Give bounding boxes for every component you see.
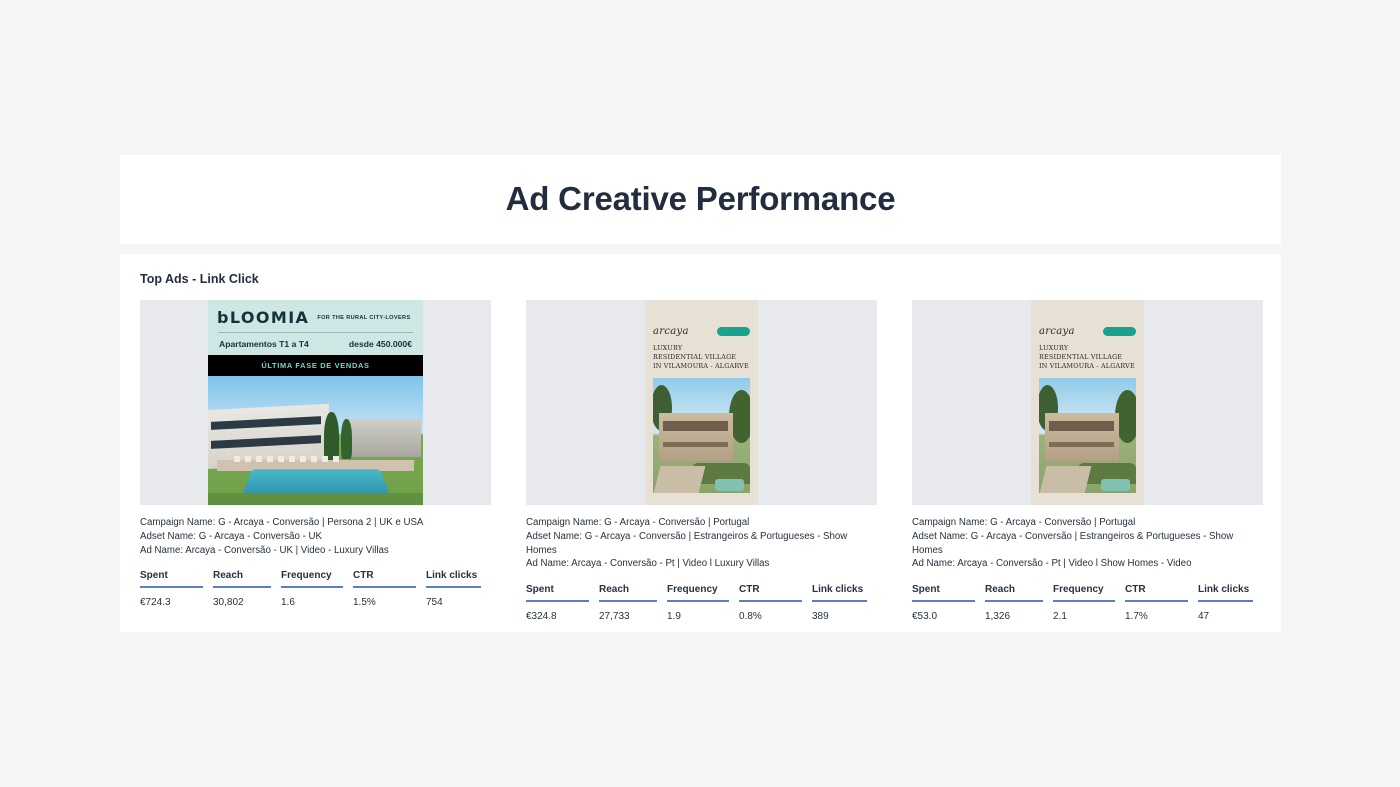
adset-name: Adset Name: G - Arcaya - Conversão | Est… <box>912 530 1263 558</box>
metric-value: 0.8% <box>739 602 812 622</box>
photo-path <box>1039 466 1090 494</box>
metric-header: Spent <box>526 584 599 600</box>
ad-card[interactable]: bLOOMIA FOR THE RURAL CITY-LOVERS Aparta… <box>140 300 491 622</box>
section-title: Top Ads - Link Click <box>140 272 1261 286</box>
photo-lawn <box>208 493 423 505</box>
creative-promo-band: ÚLTIMA FASE DE VENDAS <box>208 355 423 376</box>
metric-header: Spent <box>140 570 213 586</box>
creative-price: desde 450.000€ <box>349 339 412 349</box>
creative-photo <box>1039 378 1136 493</box>
photo-villa <box>659 413 733 461</box>
top-ads-panel: Top Ads - Link Click bLOOMIA FOR THE RUR… <box>120 254 1281 632</box>
ad-card-list: bLOOMIA FOR THE RURAL CITY-LOVERS Aparta… <box>140 300 1261 622</box>
creative-headline: LUXURYRESIDENTIAL VILLAGEIN VILAMOURA - … <box>653 344 750 371</box>
creative-headline: Apartamentos T1 a T4 <box>219 339 309 349</box>
metric-header: Reach <box>599 584 667 600</box>
metric-header: Spent <box>912 584 985 600</box>
creative-pill-badge <box>1103 327 1136 336</box>
metric-value: 1.6 <box>281 588 353 608</box>
page-title: Ad Creative Performance <box>506 181 896 217</box>
metric-column-ctr: CTR 0.8% <box>739 584 812 622</box>
photo-tree <box>341 419 352 459</box>
metric-header: Frequency <box>667 584 739 600</box>
ad-creative-thumbnail[interactable]: bLOOMIA FOR THE RURAL CITY-LOVERS Aparta… <box>140 300 491 505</box>
photo-building-right <box>350 419 421 458</box>
creative-pill-badge <box>717 327 750 336</box>
metric-column-frequency: Frequency 1.9 <box>667 584 739 622</box>
ad-card[interactable]: arcaya LUXURYRESIDENTIAL VILLAGEIN VILAM… <box>912 300 1263 622</box>
creative-bloomia-banner: bLOOMIA FOR THE RURAL CITY-LOVERS Aparta… <box>208 300 423 505</box>
metric-value: 1,326 <box>985 602 1053 622</box>
metric-column-spent: Spent €324.8 <box>526 584 599 622</box>
ad-card[interactable]: arcaya LUXURYRESIDENTIAL VILLAGEIN VILAM… <box>526 300 877 622</box>
metric-value: €724.3 <box>140 588 213 608</box>
ad-name: Ad Name: Arcaya - Conversão - Pt | Video… <box>912 557 1263 571</box>
metric-header: Link clicks <box>426 570 491 586</box>
metric-value: 754 <box>426 588 491 608</box>
metric-value: 2.1 <box>1053 602 1125 622</box>
metric-value: 1.5% <box>353 588 426 608</box>
creative-photo <box>653 378 750 493</box>
metric-column-ctr: CTR 1.5% <box>353 570 426 608</box>
metric-column-spent: Spent €724.3 <box>140 570 213 608</box>
ad-creative-thumbnail[interactable]: arcaya LUXURYRESIDENTIAL VILLAGEIN VILAM… <box>526 300 877 505</box>
report-page: Ad Creative Performance Top Ads - Link C… <box>0 0 1400 787</box>
photo-loungers <box>234 456 342 462</box>
adset-name: Adset Name: G - Arcaya - Conversão | Est… <box>526 530 877 558</box>
metric-column-frequency: Frequency 1.6 <box>281 570 353 608</box>
creative-headline: LUXURYRESIDENTIAL VILLAGEIN VILAMOURA - … <box>1039 344 1136 371</box>
metric-column-link-clicks: Link clicks 389 <box>812 584 877 622</box>
brand-logo: arcaya <box>1039 326 1075 337</box>
metric-column-link-clicks: Link clicks 754 <box>426 570 491 608</box>
ad-name: Ad Name: Arcaya - Conversão - Pt | Video… <box>526 557 877 571</box>
metric-header: Link clicks <box>1198 584 1263 600</box>
photo-villa <box>1045 413 1119 461</box>
metric-header: CTR <box>353 570 426 586</box>
creative-divider <box>218 332 413 333</box>
metric-column-reach: Reach 1,326 <box>985 584 1053 622</box>
metric-column-ctr: CTR 1.7% <box>1125 584 1198 622</box>
campaign-name: Campaign Name: G - Arcaya - Conversão | … <box>140 516 491 530</box>
metric-value: 1.9 <box>667 602 739 622</box>
metric-value: 1.7% <box>1125 602 1198 622</box>
metric-column-frequency: Frequency 2.1 <box>1053 584 1125 622</box>
metrics-table: Spent €53.0 Reach 1,326 Frequency 2.1 <box>912 584 1263 622</box>
creative-arcaya-story: arcaya LUXURYRESIDENTIAL VILLAGEIN VILAM… <box>645 300 758 505</box>
brand-logo: arcaya <box>653 326 689 337</box>
ad-creative-thumbnail[interactable]: arcaya LUXURYRESIDENTIAL VILLAGEIN VILAM… <box>912 300 1263 505</box>
metric-column-spent: Spent €53.0 <box>912 584 985 622</box>
creative-photo <box>208 376 423 505</box>
creative-arcaya-story: arcaya LUXURYRESIDENTIAL VILLAGEIN VILAM… <box>1031 300 1144 505</box>
ad-name: Ad Name: Arcaya - Conversão - UK | Video… <box>140 544 491 558</box>
metric-column-reach: Reach 30,802 <box>213 570 281 608</box>
ad-metadata: Campaign Name: G - Arcaya - Conversão | … <box>140 516 491 557</box>
creative-header: bLOOMIA FOR THE RURAL CITY-LOVERS Aparta… <box>208 300 423 355</box>
campaign-name: Campaign Name: G - Arcaya - Conversão | … <box>526 516 877 530</box>
metrics-table: Spent €724.3 Reach 30,802 Frequency 1.6 <box>140 570 491 608</box>
campaign-name: Campaign Name: G - Arcaya - Conversão | … <box>912 516 1263 530</box>
photo-pool <box>715 479 744 491</box>
brand-logo: bLOOMIA <box>217 310 309 326</box>
metrics-table: Spent €324.8 Reach 27,733 Frequency 1.9 <box>526 584 877 622</box>
metric-value: 389 <box>812 602 877 622</box>
metric-header: Reach <box>985 584 1053 600</box>
metric-column-link-clicks: Link clicks 47 <box>1198 584 1263 622</box>
metric-header: CTR <box>739 584 812 600</box>
metric-header: Frequency <box>1053 584 1125 600</box>
photo-path <box>653 466 704 494</box>
ad-metadata: Campaign Name: G - Arcaya - Conversão | … <box>912 516 1263 571</box>
metric-header: Link clicks <box>812 584 877 600</box>
metric-value: €53.0 <box>912 602 985 622</box>
metric-value: 47 <box>1198 602 1263 622</box>
ad-metadata: Campaign Name: G - Arcaya - Conversão | … <box>526 516 877 571</box>
adset-name: Adset Name: G - Arcaya - Conversão - UK <box>140 530 491 544</box>
metric-value: 30,802 <box>213 588 281 608</box>
metric-value: 27,733 <box>599 602 667 622</box>
metric-header: Reach <box>213 570 281 586</box>
creative-tagline: FOR THE RURAL CITY-LOVERS <box>317 315 410 321</box>
photo-pool <box>1101 479 1130 491</box>
metric-header: CTR <box>1125 584 1198 600</box>
metric-value: €324.8 <box>526 602 599 622</box>
metric-header: Frequency <box>281 570 353 586</box>
metric-column-reach: Reach 27,733 <box>599 584 667 622</box>
report-header-panel: Ad Creative Performance <box>120 155 1281 244</box>
